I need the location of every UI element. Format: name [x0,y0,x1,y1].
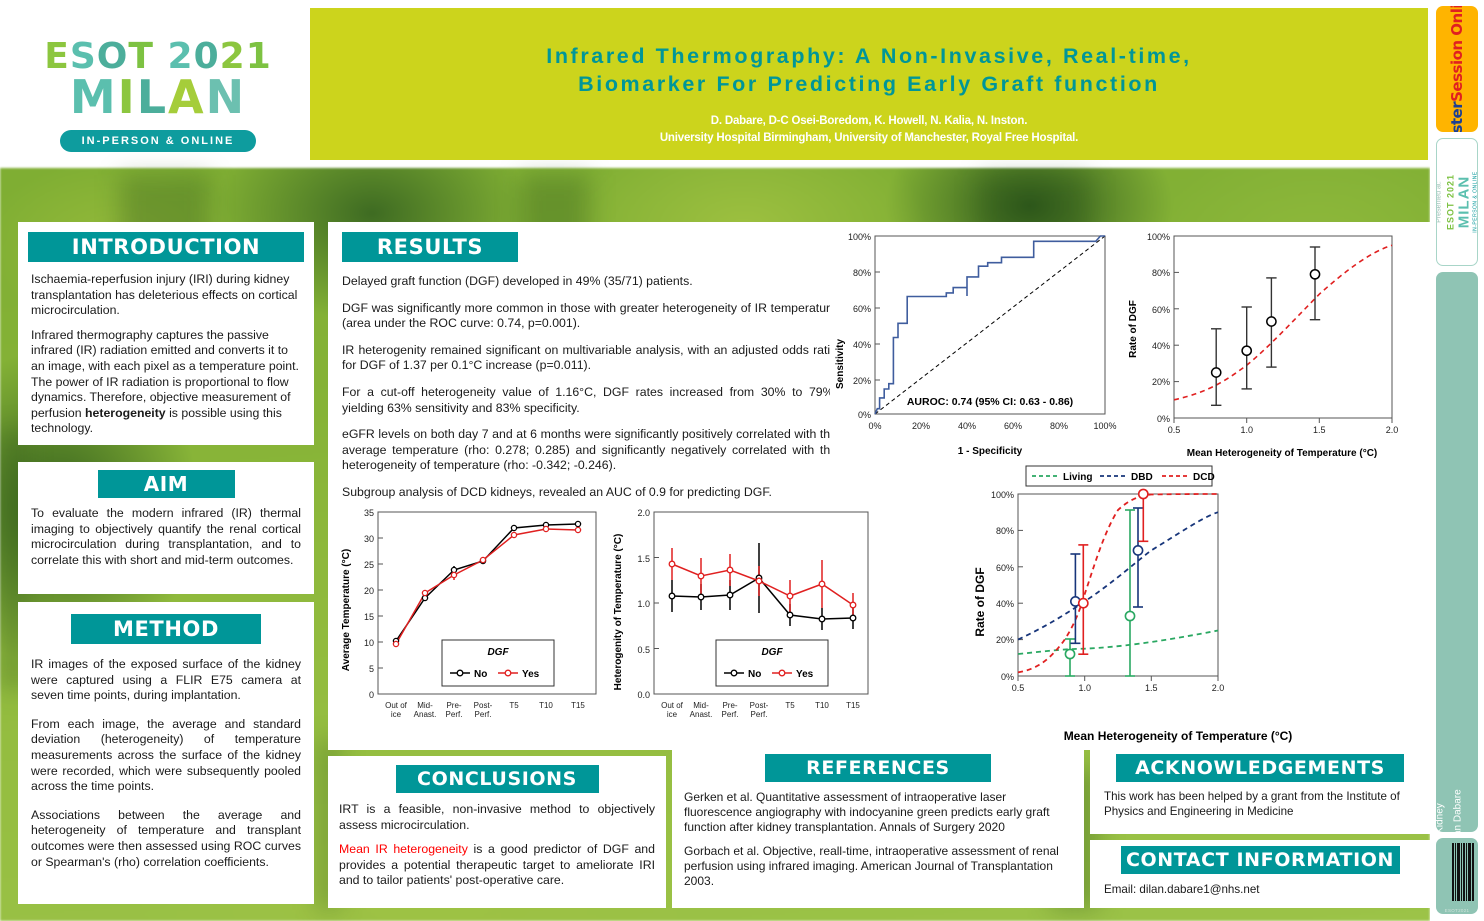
svg-text:60%: 60% [1152,305,1170,315]
roc-x-ticks: 0% 20% 40% 60% 80% 100% [868,421,1116,431]
svg-text:40%: 40% [1152,341,1170,351]
svg-text:2.0: 2.0 [1212,683,1225,693]
barcode-caption: ESOT2021 [1436,908,1478,913]
svg-text:1.0: 1.0 [1078,683,1091,693]
presented-at-label: Presented at: [1436,171,1443,233]
svg-text:Perf.: Perf. [475,710,492,719]
dgf-ylabel: Rate of DGF [1128,300,1139,358]
introduction-paragraph: Ischaemia-reperfusion injury (IRI) durin… [31,272,301,319]
sidebar-topic-label: Kidney [1436,803,1446,832]
donor-x-ticks: 0.5 1.0 1.5 2.0 [1012,676,1225,693]
svg-text:80%: 80% [1050,421,1068,431]
avgtemp-legend-yes: Yes [522,669,540,680]
page-title: Infrared Thermography: A Non-Invasive, R… [310,42,1428,98]
conclusions-heading: CONCLUSIONS [396,765,599,793]
poster-session-online-label: PosterSession Online [1448,6,1466,132]
badge-word-session-online: Session Online [1448,6,1466,102]
svg-text:0%: 0% [1001,672,1014,682]
svg-text:0.5: 0.5 [1012,683,1025,693]
panel-acknowledgements: ACKNOWLEDGEMENTS This work has been help… [1090,748,1430,834]
avgtemp-legend-title: DGF [487,647,509,658]
sidebar-milan-label: MILAN [1456,171,1473,233]
svg-text:100%: 100% [848,232,871,242]
right-sidebar: PosterSession Online Presented at: ESOT … [1430,0,1484,921]
donor-legend: Living DBD DCD [1026,466,1215,486]
svg-text:10: 10 [364,638,374,648]
svg-text:5: 5 [369,664,374,674]
acknowledgements-body: This work has been helped by a grant fro… [1104,790,1416,819]
svg-text:40%: 40% [958,421,976,431]
results-paragraph: IR heterogenity remained significant on … [342,343,837,374]
avgtemp-legend-no: No [474,669,487,680]
svg-text:60%: 60% [853,304,871,314]
svg-text:0%: 0% [868,421,881,431]
svg-text:100%: 100% [1093,421,1116,431]
panel-results: RESULTS Delayed graft function (DGF) dev… [328,222,1430,750]
esot-milan-logo: ESOT 2021 MILAN IN-PERSON & ONLINE [18,18,298,154]
contact-heading: CONTACT INFORMATION [1121,846,1400,874]
panel-method: METHOD IR images of the exposed surface … [18,602,314,904]
chart-rate-of-dgf-all: Rate of DGF Mean Heterogeneity of Temper… [1122,224,1422,464]
badge-word-poster: Poster [1448,102,1466,132]
roc-ylabel: Sensitivity [835,339,846,389]
svg-text:0: 0 [369,690,374,700]
svg-text:Pre-: Pre- [722,701,737,710]
svg-text:80%: 80% [853,268,871,278]
method-body: IR images of the exposed surface of the … [31,657,301,870]
svg-text:60%: 60% [1004,421,1022,431]
results-paragraph: eGFR levels on both day 7 and at 6 month… [342,427,837,474]
chart-average-temperature: Average Temperature (°C) 35 30 25 20 15 … [336,500,606,748]
sidebar-topic-panel: Kidney Dilan Dabare [1436,272,1478,832]
results-paragraph: DGF was significantly more common in tho… [342,301,837,332]
svg-text:Mid-: Mid- [417,701,433,710]
avgtemp-ylabel: Average Temperature (°C) [341,549,352,671]
barcode-icon [1452,843,1474,901]
svg-text:Anast.: Anast. [690,710,713,719]
avgtemp-legend: DGF No Yes [442,640,554,686]
author-list: D. Dabare, D-C Osei-Boredom, K. Howell, … [310,113,1428,130]
svg-text:T10: T10 [539,701,553,710]
svg-text:1.5: 1.5 [1313,425,1326,435]
het-legend-yes: Yes [796,669,814,680]
aim-paragraph: To evaluate the modern infrared (IR) the… [31,506,301,568]
dgf-xlabel: Mean Heterogeneity of Temperature (°C) [1187,448,1378,459]
svg-text:60%: 60% [996,563,1014,573]
references-body: Gerken et al. Quantitative assessment of… [684,790,1072,889]
acknowledgements-heading: ACKNOWLEDGEMENTS [1116,754,1404,782]
svg-text:Out of: Out of [661,701,684,710]
affiliation-list: University Hospital Birmingham, Universi… [310,130,1428,147]
donor-legend-dcd: DCD [1193,472,1215,483]
svg-text:100%: 100% [1147,232,1170,242]
svg-text:T5: T5 [509,701,519,710]
title-line-1: Infrared Thermography: A Non-Invasive, R… [310,42,1428,70]
panel-aim: AIM To evaluate the modern infrared (IR)… [18,462,314,594]
reference-item: Gerken et al. Quantitative assessment of… [684,790,1072,835]
svg-text:0.5: 0.5 [637,645,650,655]
sidebar-milan-tagline: IN-PERSON & ONLINE [1473,171,1479,233]
method-heading: METHOD [71,614,261,644]
svg-text:ice: ice [667,710,678,719]
svg-text:40%: 40% [996,599,1014,609]
aim-body: To evaluate the modern infrared (IR) the… [31,506,301,568]
poster-root: ESOT 2021 MILAN IN-PERSON & ONLINE Infra… [0,0,1484,921]
logo-milan-text: MILAN [18,70,298,124]
het-legend-title: DGF [761,647,783,658]
title-banner: Infrared Thermography: A Non-Invasive, R… [310,8,1428,160]
conclusions-paragraph: IRT is a feasible, non-invasive method t… [339,802,655,833]
dgf-x-ticks: 0.5 1.0 1.5 2.0 [1168,418,1399,435]
svg-text:Perf.: Perf. [722,710,739,719]
results-heading: RESULTS [342,232,518,262]
svg-text:30: 30 [364,534,374,544]
avgtemp-x-categories: Out ofice Mid-Anast. Pre-Perf. Post-Perf… [385,701,585,719]
svg-text:Post-: Post- [750,701,769,710]
roc-xlabel: 1 - Specificity [958,446,1023,457]
svg-text:T15: T15 [846,701,860,710]
svg-text:2.0: 2.0 [637,508,650,518]
svg-text:Mid-: Mid- [693,701,709,710]
het-x-categories: Out ofice Mid-Anast. Pre-Perf. Post-Perf… [661,701,860,719]
svg-text:40%: 40% [853,340,871,350]
svg-text:20%: 20% [853,376,871,386]
authors-block: D. Dabare, D-C Osei-Boredom, K. Howell, … [310,113,1428,147]
donor-xlabel: Mean Heterogeneity of Temperature (°C) [1064,729,1293,743]
svg-text:Pre-: Pre- [446,701,461,710]
conclusions-body: IRT is a feasible, non-invasive method t… [339,802,655,889]
results-body: Delayed graft function (DGF) developed i… [342,274,837,512]
sidebar-presenter-label: Dilan Dabare [1453,789,1464,832]
reference-item: Gorbach et al. Objective, reall-time, in… [684,844,1072,889]
sidebar-esot-stack: Presented at: ESOT 2021 MILAN IN-PERSON … [1436,171,1478,233]
introduction-paragraph: Infrared thermography captures the passi… [31,328,301,437]
svg-text:20%: 20% [912,421,930,431]
svg-text:1.5: 1.5 [1145,683,1158,693]
panel-conclusions: CONCLUSIONS IRT is a feasible, non-invas… [328,756,666,908]
het-legend: DGF No Yes [716,640,828,686]
aim-heading: AIM [98,470,235,498]
logo-tagline: IN-PERSON & ONLINE [60,130,256,152]
svg-text:0.5: 0.5 [1168,425,1181,435]
sidebar-barcode-panel: POS-195 ESOT2021 [1436,838,1478,914]
chart-heterogeneity-of-temperature: Heterogenity of Temperature (°C) 2.0 1.5… [608,500,878,748]
sidebar-esot-logo: Presented at: ESOT 2021 MILAN IN-PERSON … [1436,138,1478,266]
introduction-body: Ischaemia-reperfusion injury (IRI) durin… [31,272,301,437]
svg-text:Anast.: Anast. [414,710,437,719]
svg-text:15: 15 [364,612,374,622]
donor-legend-dbd: DBD [1131,472,1153,483]
het-ylabel: Heterogenity of Temperature (°C) [613,534,624,691]
svg-text:80%: 80% [996,526,1014,536]
svg-text:Post-: Post- [474,701,493,710]
chart-rate-of-dgf-by-donor-type: Living DBD DCD Rate of DGF Mean Heteroge… [948,462,1418,750]
svg-text:Perf.: Perf. [751,710,768,719]
svg-text:2.0: 2.0 [1386,425,1399,435]
svg-text:1.5: 1.5 [637,554,650,564]
roc-auroc-annotation: AUROC: 0.74 (95% CI: 0.63 - 0.86) [907,396,1073,408]
svg-text:Out of: Out of [385,701,408,710]
chart-roc-curve: Sensitivity 1 - Specificity 100% 80% 60%… [830,224,1128,464]
title-line-2: Biomarker For Predicting Early Graft fun… [310,70,1428,98]
method-paragraph: From each image, the average and standar… [31,717,301,795]
donor-legend-living: Living [1063,472,1092,483]
svg-text:20%: 20% [996,635,1014,645]
svg-text:Perf.: Perf. [446,710,463,719]
references-heading: REFERENCES [765,754,991,782]
conclusions-highlight: Mean IR heterogeneity [339,842,468,856]
svg-text:0%: 0% [858,410,871,420]
panel-references: REFERENCES Gerken et al. Quantitative as… [672,748,1084,908]
svg-text:0%: 0% [1157,414,1170,424]
introduction-heading: INTRODUCTION [28,232,304,262]
results-paragraph: For a cut-off heterogeneity value of 1.1… [342,385,837,416]
poster-session-online-badge[interactable]: PosterSession Online [1436,6,1478,132]
donor-plot-frame [1018,494,1218,676]
het-legend-no: No [748,669,761,680]
results-paragraph: Subgroup analysis of DCD kidneys, reveal… [342,485,837,501]
svg-text:20%: 20% [1152,377,1170,387]
svg-text:25: 25 [364,560,374,570]
svg-text:0.0: 0.0 [637,690,650,700]
conclusions-paragraph: Mean IR heterogeneity is a good predicto… [339,842,655,889]
results-paragraph: Delayed graft function (DGF) developed i… [342,274,837,290]
svg-text:35: 35 [364,508,374,518]
svg-text:1.0: 1.0 [1240,425,1253,435]
svg-text:1.0: 1.0 [637,599,650,609]
method-paragraph: Associations between the average and het… [31,808,301,870]
contact-email[interactable]: Email: dilan.dabare1@nhs.net [1104,882,1416,898]
svg-text:T10: T10 [815,701,829,710]
svg-text:ice: ice [391,710,402,719]
panel-introduction: INTRODUCTION Ischaemia-reperfusion injur… [18,222,314,445]
svg-text:100%: 100% [991,490,1014,500]
donor-ylabel: Rate of DGF [973,567,987,636]
dgf-plot-frame [1174,236,1392,418]
svg-text:T15: T15 [571,701,585,710]
panel-contact-information: CONTACT INFORMATION Email: dilan.dabare1… [1090,840,1430,908]
svg-text:T5: T5 [785,701,795,710]
method-paragraph: IR images of the exposed surface of the … [31,657,301,704]
svg-text:80%: 80% [1152,268,1170,278]
sidebar-esot-label: ESOT 2021 [1446,171,1456,233]
bold-heterogeneity: heterogeneity [85,406,166,420]
poster-id-label: POS-195 [1436,863,1438,904]
svg-text:20: 20 [364,586,374,596]
